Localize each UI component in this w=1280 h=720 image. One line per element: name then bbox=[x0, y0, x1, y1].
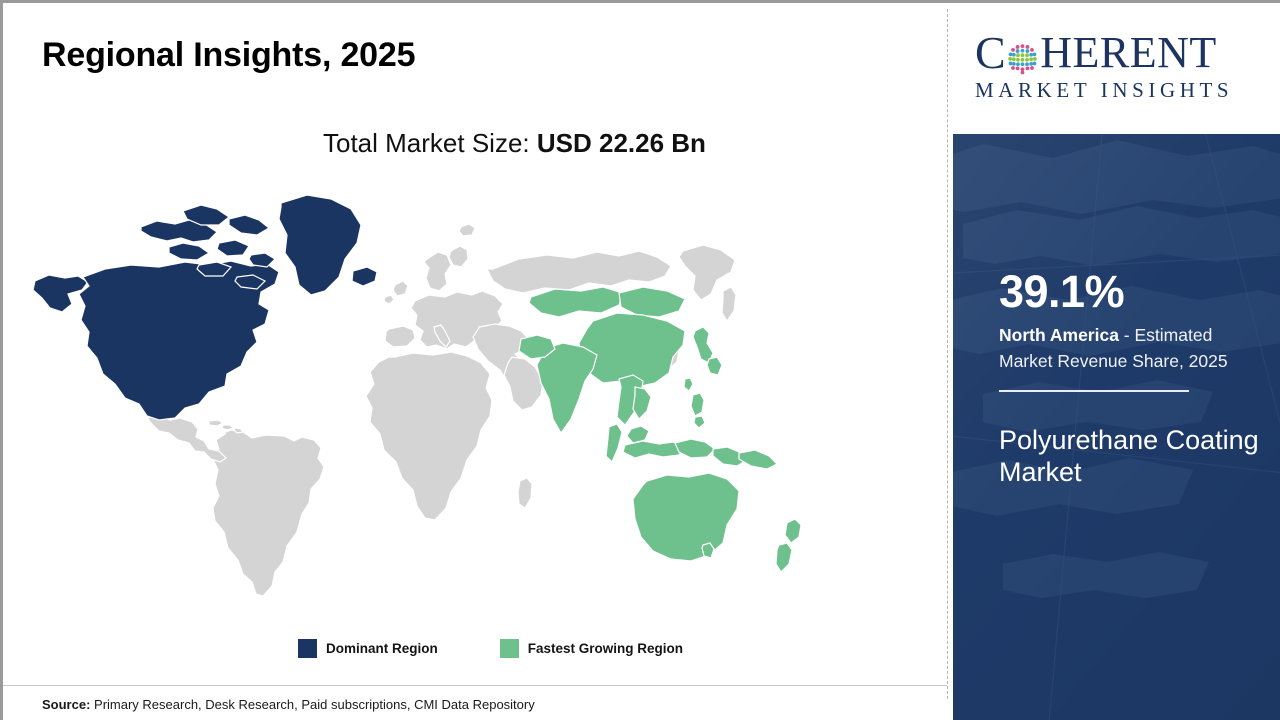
dotted-globe-icon bbox=[1006, 38, 1039, 71]
infographic-page: Regional Insights, 2025 Total Market Siz… bbox=[0, 0, 1280, 720]
panel-divider bbox=[947, 9, 948, 699]
main-panel: Regional Insights, 2025 Total Market Siz… bbox=[3, 3, 947, 720]
legend-swatch-dominant bbox=[298, 639, 317, 658]
sidebar-content: 39.1% North America - Estimated Market R… bbox=[999, 267, 1261, 488]
brand-logo[interactable]: C bbox=[953, 3, 1280, 134]
world-map bbox=[23, 181, 923, 621]
legend-label-dominant: Dominant Region bbox=[326, 641, 438, 656]
logo-wordmark: C bbox=[975, 30, 1265, 76]
market-size-label: Total Market Size: bbox=[323, 128, 530, 158]
map-legend: Dominant Region Fastest Growing Region bbox=[298, 639, 683, 658]
legend-label-fastest-growing: Fastest Growing Region bbox=[528, 641, 683, 656]
map-dominant-region bbox=[33, 195, 377, 420]
logo-wordmark-rest: HERENT bbox=[1040, 30, 1217, 76]
legend-item-dominant: Dominant Region bbox=[298, 639, 438, 658]
share-region: North America bbox=[999, 325, 1119, 345]
total-market-size: Total Market Size: USD 22.26 Bn bbox=[323, 128, 706, 159]
map-fastest-growing-region bbox=[519, 287, 801, 572]
share-description: North America - Estimated Market Revenue… bbox=[999, 323, 1261, 374]
source-note: Source: Primary Research, Desk Research,… bbox=[42, 697, 535, 712]
legend-swatch-fastest-growing bbox=[500, 639, 519, 658]
share-value: 39.1% bbox=[999, 267, 1261, 317]
market-name: Polyurethane Coating Market bbox=[999, 424, 1261, 488]
source-label: Source: bbox=[42, 697, 90, 712]
sidebar-separator bbox=[999, 390, 1189, 392]
footer-divider bbox=[3, 685, 947, 686]
page-title: Regional Insights, 2025 bbox=[42, 36, 415, 75]
market-size-value: USD 22.26 Bn bbox=[537, 128, 706, 158]
legend-item-fastest-growing: Fastest Growing Region bbox=[500, 639, 683, 658]
source-text: Primary Research, Desk Research, Paid su… bbox=[90, 697, 534, 712]
sidebar-panel: C bbox=[953, 3, 1280, 720]
logo-letter-c: C bbox=[975, 30, 1006, 76]
sidebar-stat-panel: 39.1% North America - Estimated Market R… bbox=[953, 134, 1280, 720]
logo-tagline: MARKET INSIGHTS bbox=[975, 78, 1265, 103]
